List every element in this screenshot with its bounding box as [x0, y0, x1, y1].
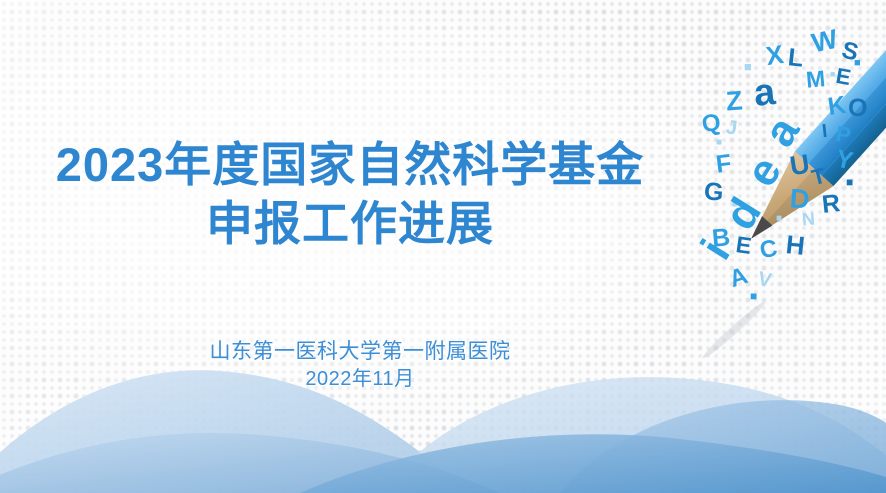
presentation-slide: X L W S M E Z a K O Q J I P F G U Y T D …	[0, 0, 886, 493]
letter-P: P	[834, 123, 852, 147]
letter-fleck-1: ■	[744, 60, 752, 73]
subtitle-organization: 山东第一医科大学第一附属医院	[0, 338, 720, 366]
letter-I: I	[821, 122, 828, 141]
letter-K: K	[826, 93, 847, 120]
idea-letter-d: d	[718, 191, 770, 237]
title-line-1: 2023年度国家自然科学基金	[0, 136, 700, 195]
idea-letter-e: e	[739, 150, 789, 194]
letter-V: V	[756, 269, 773, 291]
idea-letter-a: a	[757, 110, 807, 154]
letter-W: W	[809, 26, 840, 58]
letter-fleck-2: ■	[854, 58, 861, 69]
letter-L: L	[787, 45, 805, 71]
letter-X: X	[764, 41, 785, 69]
title-line-2: 申报工作进展	[0, 195, 700, 254]
subtitle-date: 2022年11月	[0, 366, 720, 393]
letter-fleck-7: ■	[830, 70, 835, 79]
letter-R: R	[821, 191, 842, 218]
letter-E: E	[834, 65, 852, 89]
letter-O: O	[847, 95, 868, 121]
idea-word: i d e a	[704, 88, 814, 268]
slide-title: 2023年度国家自然科学基金 申报工作进展	[0, 136, 700, 254]
letter-A: A	[727, 264, 751, 292]
slide-subtitle: 山东第一医科大学第一附属医院 2022年11月	[0, 338, 720, 393]
letter-fleck-6: ■	[750, 290, 757, 302]
letter-fleck-4: ■	[846, 176, 853, 188]
letter-Y: Y	[834, 147, 856, 175]
